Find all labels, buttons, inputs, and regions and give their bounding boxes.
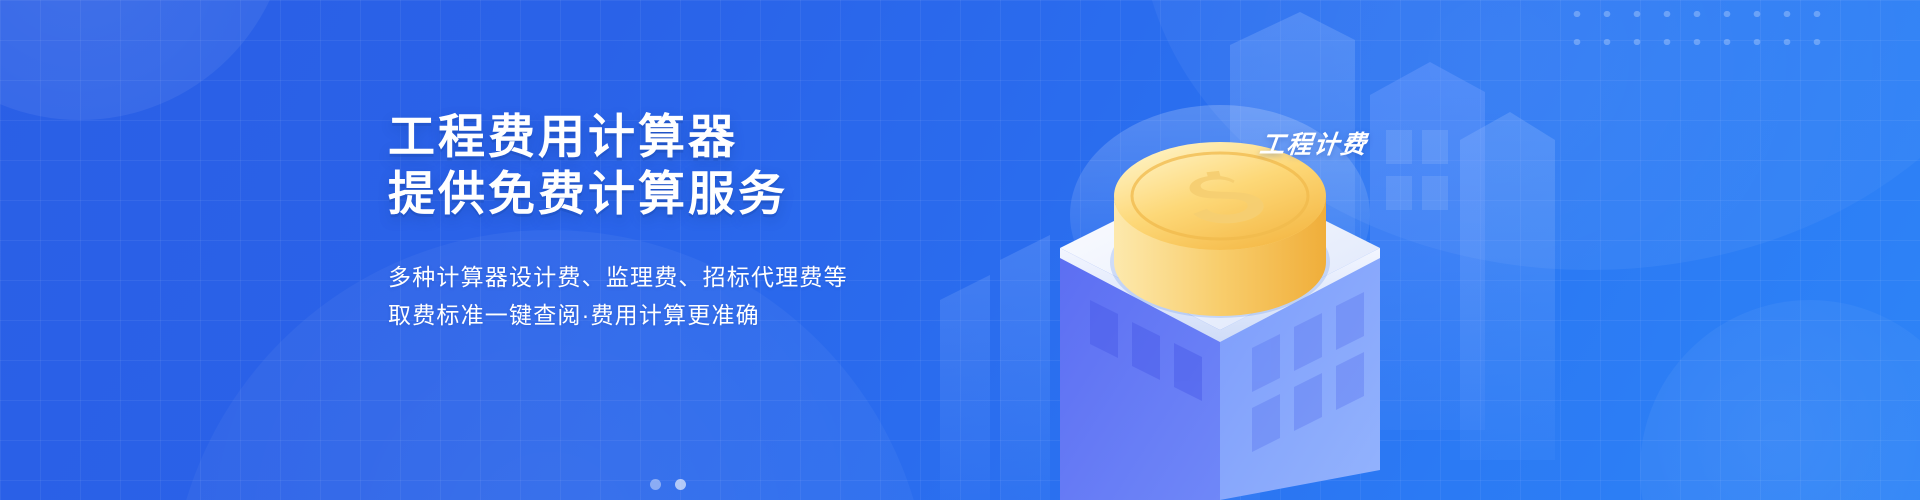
decorative-dot-grid bbox=[1562, 0, 1832, 58]
carousel-dot-1[interactable] bbox=[650, 479, 661, 490]
hero-banner: 工程费用计算器 提供免费计算服务 多种计算器设计费、监理费、招标代理费等 取费标… bbox=[0, 0, 1920, 500]
carousel-dot-2[interactable] bbox=[675, 479, 686, 490]
illustration-badge-label: 工程计费 bbox=[1258, 125, 1370, 161]
gold-coin-stack bbox=[1110, 142, 1330, 318]
isometric-city-coin-illustration bbox=[900, 0, 1600, 500]
carousel-pagination[interactable] bbox=[650, 479, 686, 490]
banner-illustration: 工程计费 bbox=[900, 0, 1600, 500]
